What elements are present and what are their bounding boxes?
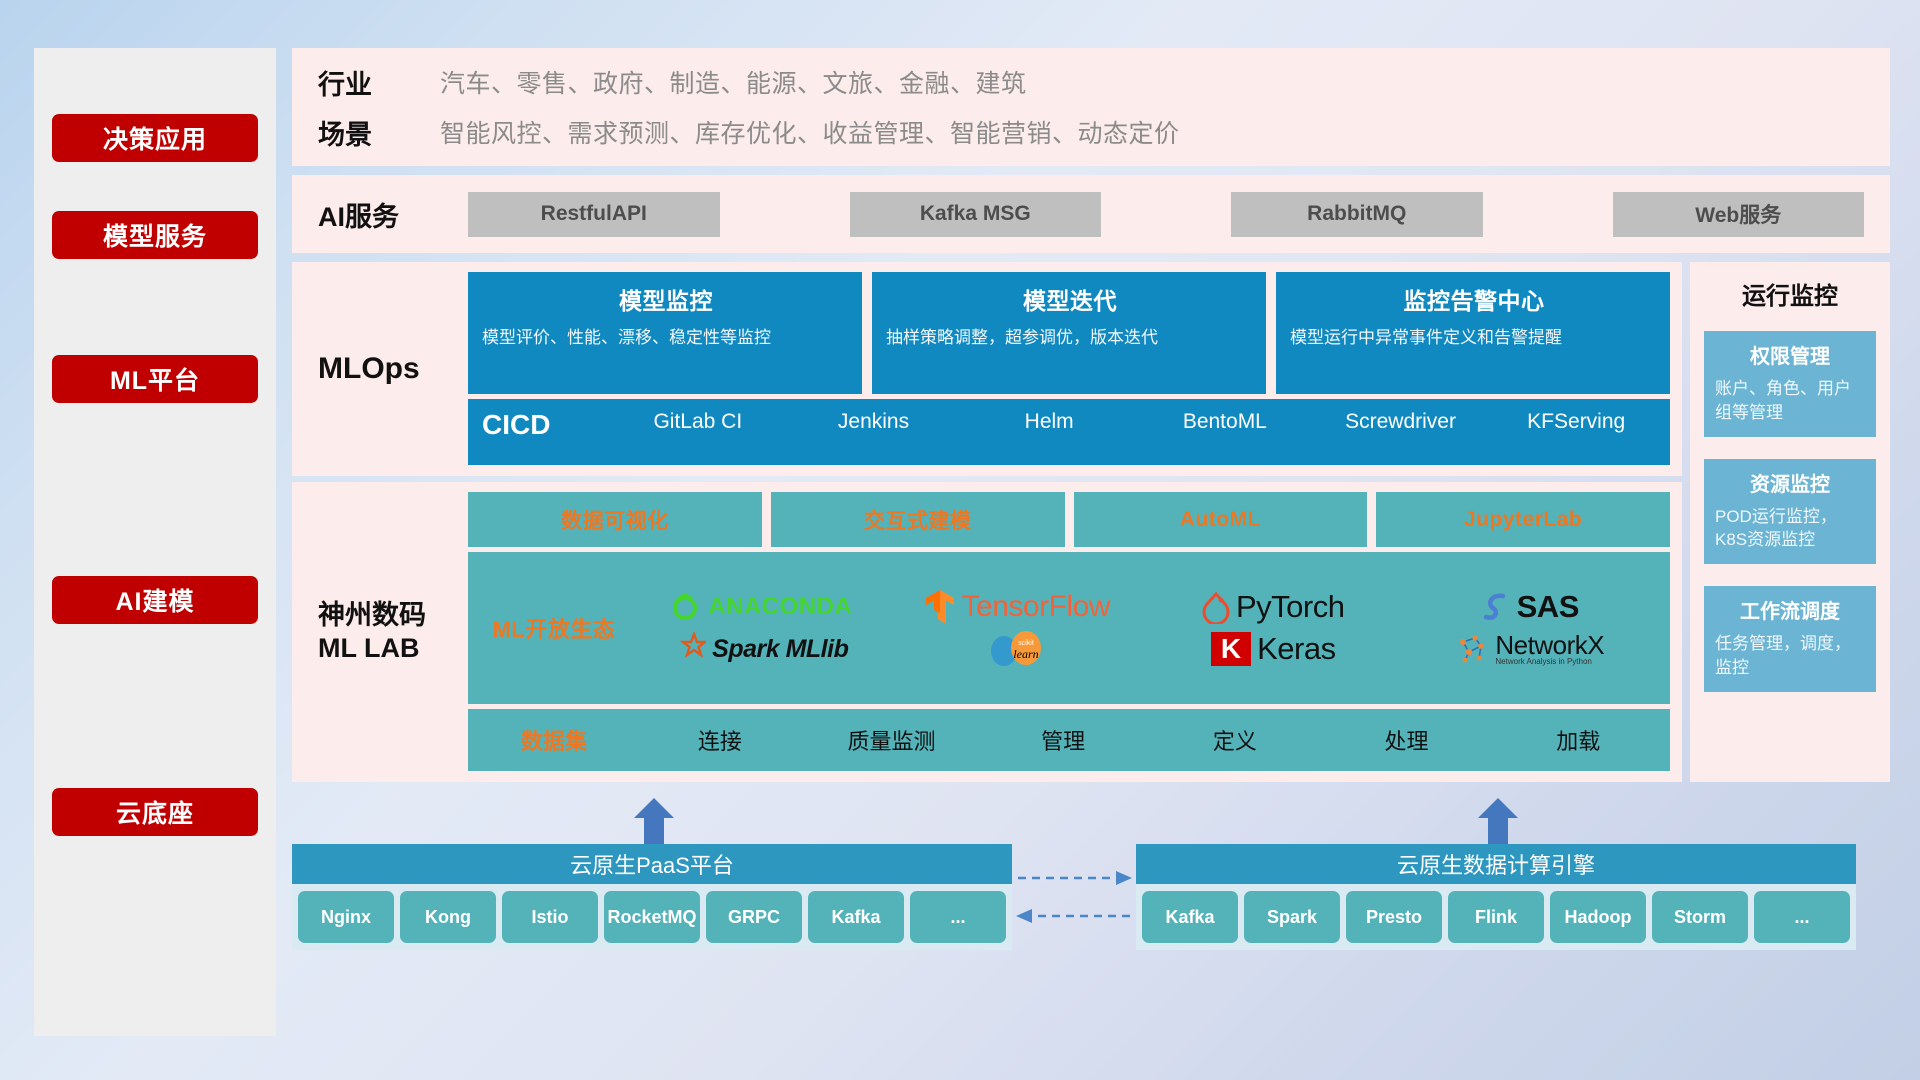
engine-item-list: Kafka Spark Presto Flink Hadoop Storm ..… <box>1136 884 1856 950</box>
ml-lab-label-cn: 神州数码 <box>318 599 468 632</box>
data-compute-engine-title: 云原生数据计算引擎 <box>1136 844 1856 884</box>
ml-ecosystem-logo-grid: ANACONDA TensorFlow <box>634 587 1656 669</box>
mlops-card[interactable]: 监控告警中心 模型运行中异常事件定义和告警提醒 <box>1276 272 1670 394</box>
engine-item[interactable]: Hadoop <box>1550 891 1646 943</box>
keras-logo: K Keras <box>1211 631 1336 667</box>
ml-tool-chip[interactable]: 数据可视化 <box>468 492 762 547</box>
paas-item[interactable]: ... <box>910 891 1006 943</box>
cicd-item[interactable]: GitLab CI <box>610 407 786 438</box>
ai-service-band: AI服务 RestfulAPI Kafka MSG RabbitMQ Web服务 <box>292 175 1890 253</box>
ml-lab-label: 神州数码 ML LAB <box>318 492 468 771</box>
stage-chip-cloud-base[interactable]: 云底座 <box>52 788 258 836</box>
engine-item[interactable]: Kafka <box>1142 891 1238 943</box>
paas-item[interactable]: Kafka <box>808 891 904 943</box>
cicd-label: CICD <box>482 407 610 442</box>
mlops-card-desc: 模型评价、性能、漂移、稳定性等监控 <box>482 326 850 351</box>
dataset-item[interactable]: 加载 <box>1492 724 1664 756</box>
monitor-card-desc: POD运行监控，K8S资源监控 <box>1715 505 1865 553</box>
tensorflow-logo-text: TensorFlow <box>962 590 1110 624</box>
spark-mllib-logo-text: Spark MLlib <box>712 635 848 664</box>
ml-tool-chip[interactable]: 交互式建模 <box>771 492 1065 547</box>
platform-section: MLOps 模型监控 模型评价、性能、漂移、稳定性等监控 模型迭代 抽样策略调整… <box>292 262 1890 782</box>
ai-service-chip-list: RestfulAPI Kafka MSG RabbitMQ Web服务 <box>468 192 1864 237</box>
dataset-row: 数据集 连接 质量监测 管理 定义 处理 加载 <box>468 709 1670 771</box>
paas-platform-block: 云原生PaaS平台 Nginx Kong Istio RocketMQ GRPC… <box>292 844 1012 950</box>
ml-lab-content: 数据可视化 交互式建模 AutoML JupyterLab ML开放生态 <box>468 492 1670 771</box>
service-chip[interactable]: Kafka MSG <box>850 192 1102 237</box>
svg-text:scikit: scikit <box>1018 640 1034 647</box>
svg-text:learn: learn <box>1013 647 1038 661</box>
service-chip[interactable]: Web服务 <box>1613 192 1865 237</box>
runtime-monitoring-panel: 运行监控 权限管理 账户、角色、用户组等管理 资源监控 POD运行监控，K8S资… <box>1690 262 1890 782</box>
sas-logo-text: SAS <box>1517 589 1579 625</box>
paas-item[interactable]: GRPC <box>706 891 802 943</box>
cicd-item[interactable]: BentoML <box>1137 407 1313 438</box>
ml-ecosystem-label: ML开放生态 <box>474 612 634 644</box>
networkx-logo: NetworkX Network Analysis in Python <box>1455 632 1604 666</box>
upward-arrow-icon <box>1476 798 1520 844</box>
dataset-item[interactable]: 定义 <box>1149 724 1321 756</box>
runtime-monitoring-title: 运行监控 <box>1704 276 1876 311</box>
ml-lab-label-en: ML LAB <box>318 632 468 665</box>
cicd-item[interactable]: Helm <box>961 407 1137 438</box>
engine-item[interactable]: ... <box>1754 891 1850 943</box>
stage-chip-decision-app[interactable]: 决策应用 <box>52 114 258 162</box>
mlops-band: MLOps 模型监控 模型评价、性能、漂移、稳定性等监控 模型迭代 抽样策略调整… <box>292 262 1682 476</box>
dataset-item[interactable]: 管理 <box>977 724 1149 756</box>
mlops-card[interactable]: 模型迭代 抽样策略调整，超参调优，版本迭代 <box>872 272 1266 394</box>
tensorflow-logo: TensorFlow <box>924 588 1110 626</box>
diagram-root: 决策应用 模型服务 ML平台 AI建模 云底座 行业 汽车、零售、政府、制造、能… <box>0 0 1920 1080</box>
scenario-row: 场景 智能风控、需求预测、库存优化、收益管理、智能营销、动态定价 <box>318 107 1864 157</box>
paas-item[interactable]: Kong <box>400 891 496 943</box>
stage-chip-ml-platform[interactable]: ML平台 <box>52 355 258 403</box>
networkx-logo-text: NetworkX <box>1495 632 1604 658</box>
ml-tool-list: 数据可视化 交互式建模 AutoML JupyterLab <box>468 492 1670 547</box>
pytorch-logo-text: PyTorch <box>1236 589 1344 625</box>
monitor-card-title: 资源监控 <box>1715 468 1865 497</box>
paas-item[interactable]: RocketMQ <box>604 891 700 943</box>
service-chip[interactable]: RestfulAPI <box>468 192 720 237</box>
mlops-card-desc: 抽样策略调整，超参调优，版本迭代 <box>886 326 1254 351</box>
dataset-item[interactable]: 质量监测 <box>806 724 978 756</box>
monitor-card-desc: 账户、角色、用户组等管理 <box>1715 377 1865 425</box>
ai-service-label: AI服务 <box>318 195 468 234</box>
platform-left: MLOps 模型监控 模型评价、性能、漂移、稳定性等监控 模型迭代 抽样策略调整… <box>292 262 1682 782</box>
monitor-card-desc: 任务管理，调度，监控 <box>1715 632 1865 680</box>
sas-logo: SAS <box>1481 589 1579 625</box>
dataset-label: 数据集 <box>474 724 634 756</box>
mlops-card-desc: 模型运行中异常事件定义和告警提醒 <box>1290 326 1658 351</box>
paas-item[interactable]: Nginx <box>298 891 394 943</box>
scenario-values: 智能风控、需求预测、库存优化、收益管理、智能营销、动态定价 <box>440 114 1180 150</box>
ai-modeling-band: 神州数码 ML LAB 数据可视化 交互式建模 AutoML JupyterLa… <box>292 482 1682 782</box>
mlops-card[interactable]: 模型监控 模型评价、性能、漂移、稳定性等监控 <box>468 272 862 394</box>
stage-chip-ai-modeling[interactable]: AI建模 <box>52 576 258 624</box>
stage-chip-model-service[interactable]: 模型服务 <box>52 211 258 259</box>
ml-tool-chip[interactable]: AutoML <box>1074 492 1368 547</box>
monitor-card[interactable]: 资源监控 POD运行监控，K8S资源监控 <box>1704 459 1876 565</box>
upward-arrow-icon <box>632 798 676 844</box>
mlops-card-title: 监控告警中心 <box>1290 282 1658 316</box>
paas-platform-title: 云原生PaaS平台 <box>292 844 1012 884</box>
anaconda-logo-text: ANACONDA <box>708 593 852 621</box>
mlops-card-title: 模型监控 <box>482 282 850 316</box>
networkx-logo-tagline: Network Analysis in Python <box>1495 658 1604 666</box>
mlops-card-title: 模型迭代 <box>886 282 1254 316</box>
anaconda-logo: ANACONDA <box>668 590 852 624</box>
cicd-item[interactable]: Screwdriver <box>1313 407 1489 438</box>
monitor-card[interactable]: 权限管理 账户、角色、用户组等管理 <box>1704 331 1876 437</box>
engine-item[interactable]: Spark <box>1244 891 1340 943</box>
cloud-foundation-section: 云原生PaaS平台 Nginx Kong Istio RocketMQ GRPC… <box>292 800 1890 950</box>
monitor-card-title: 工作流调度 <box>1715 595 1865 624</box>
keras-mark: K <box>1211 632 1251 666</box>
paas-item[interactable]: Istio <box>502 891 598 943</box>
industry-row: 行业 汽车、零售、政府、制造、能源、文旅、金融、建筑 <box>318 57 1864 107</box>
mlops-label: MLOps <box>318 272 468 465</box>
cicd-bar: CICD GitLab CI Jenkins Helm BentoML Scre… <box>468 399 1670 465</box>
main-column: 行业 汽车、零售、政府、制造、能源、文旅、金融、建筑 场景 智能风控、需求预测、… <box>292 48 1890 1036</box>
monitor-card-title: 权限管理 <box>1715 340 1865 369</box>
scenario-label: 场景 <box>318 113 440 152</box>
mlops-content: 模型监控 模型评价、性能、漂移、稳定性等监控 模型迭代 抽样策略调整，超参调优，… <box>468 272 1670 465</box>
industry-values: 汽车、零售、政府、制造、能源、文旅、金融、建筑 <box>440 64 1027 100</box>
ml-tool-chip[interactable]: JupyterLab <box>1376 492 1670 547</box>
cicd-item[interactable]: Jenkins <box>786 407 962 438</box>
dataset-item-list: 连接 质量监测 管理 定义 处理 加载 <box>634 724 1664 756</box>
keras-logo-text: Keras <box>1257 631 1335 667</box>
decision-application-band: 行业 汽车、零售、政府、制造、能源、文旅、金融、建筑 场景 智能风控、需求预测、… <box>292 48 1890 166</box>
engine-item[interactable]: Storm <box>1652 891 1748 943</box>
stage-rail: 决策应用 模型服务 ML平台 AI建模 云底座 <box>34 48 276 1036</box>
cicd-item-list: GitLab CI Jenkins Helm BentoML Screwdriv… <box>610 407 1664 438</box>
engine-item[interactable]: Flink <box>1448 891 1544 943</box>
scikit-learn-logo: scikit learn <box>986 629 1048 669</box>
pytorch-logo: PyTorch <box>1202 589 1344 625</box>
cicd-item[interactable]: KFServing <box>1488 407 1664 438</box>
mlops-card-list: 模型监控 模型评价、性能、漂移、稳定性等监控 模型迭代 抽样策略调整，超参调优，… <box>468 272 1670 394</box>
dataset-item[interactable]: 连接 <box>634 724 806 756</box>
ml-ecosystem-row: ML开放生态 ANACONDA <box>468 552 1670 704</box>
industry-label: 行业 <box>318 63 440 102</box>
bidirectional-link-icons <box>1012 862 1136 932</box>
dataset-item[interactable]: 处理 <box>1321 724 1493 756</box>
spark-mllib-logo: Spark MLlib <box>672 632 848 666</box>
data-compute-engine-block: 云原生数据计算引擎 Kafka Spark Presto Flink Hadoo… <box>1136 844 1856 950</box>
engine-item[interactable]: Presto <box>1346 891 1442 943</box>
service-chip[interactable]: RabbitMQ <box>1231 192 1483 237</box>
monitor-card[interactable]: 工作流调度 任务管理，调度，监控 <box>1704 586 1876 692</box>
paas-item-list: Nginx Kong Istio RocketMQ GRPC Kafka ... <box>292 884 1012 950</box>
